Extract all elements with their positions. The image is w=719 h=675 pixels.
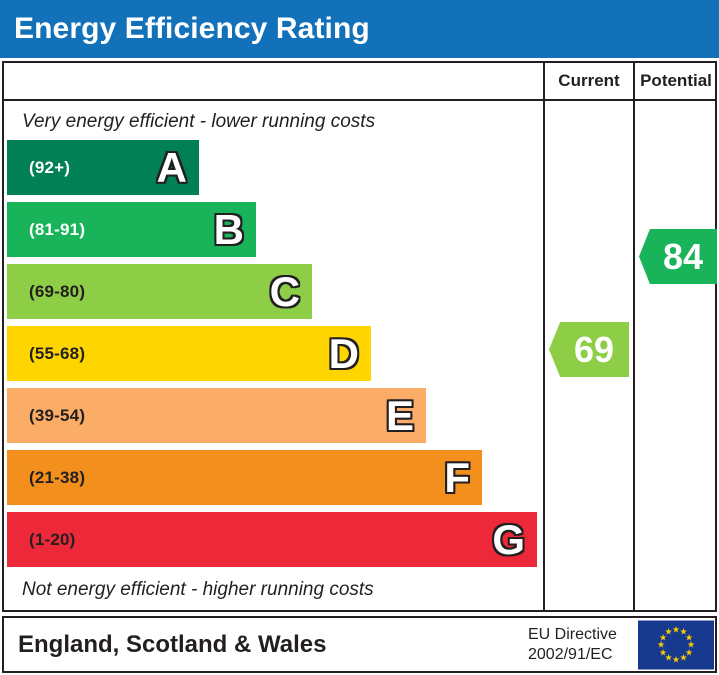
caption-efficient: Very energy efficient - lower running co… [22,111,375,133]
band-range-label: (92+) [29,158,70,178]
chart-header-bar: Energy Efficiency Rating [0,0,719,58]
eu-flag-star: ★ [680,653,688,661]
band-range-label: (21-38) [29,468,85,488]
rating-band-g: (1-20)G [7,512,537,567]
energy-efficiency-rating-chart: Energy Efficiency Rating Current Potenti… [0,0,719,675]
eu-flag-star: ★ [665,628,673,636]
eu-flag-star: ★ [672,656,680,664]
footer-region-label: England, Scotland & Wales [18,631,326,659]
page-title: Energy Efficiency Rating [14,12,370,46]
directive-line-1: EU Directive [528,625,617,645]
band-letter-a: A [157,147,187,189]
band-letter-e: E [386,395,414,437]
caption-inefficient: Not energy efficient - higher running co… [22,579,374,601]
band-range-label: (1-20) [29,530,76,550]
band-letter-g: G [492,519,525,561]
rating-band-b: (81-91)B [7,202,256,257]
directive-line-2: 2002/91/EC [528,645,617,665]
band-range-label: (55-68) [29,344,85,364]
band-list: (92+)A(81-91)B(69-80)C(55-68)D(39-54)E(2… [7,140,543,574]
current-rating-arrow: 69 [549,322,629,377]
potential-rating-arrow: 84 [639,229,717,284]
footer-directive-label: EU Directive 2002/91/EC [528,625,617,665]
column-divider-current [543,101,545,610]
band-letter-b: B [214,209,244,251]
band-range-label: (39-54) [29,406,85,426]
band-range-label: (69-80) [29,282,85,302]
rating-table: Current Potential Very energy efficient … [2,61,717,612]
band-letter-c: C [270,271,300,313]
rating-band-a: (92+)A [7,140,199,195]
column-header-row: Current Potential [4,63,715,101]
band-letter-d: D [329,333,359,375]
bands-panel: Very energy efficient - lower running co… [4,101,543,610]
column-header-current: Current [543,63,633,99]
column-divider-potential [633,101,635,610]
rating-band-d: (55-68)D [7,326,371,381]
potential-rating-value: 84 [663,236,703,278]
chart-footer: England, Scotland & Wales EU Directive 2… [2,616,717,673]
eu-flag-icon: ★★★★★★★★★★★★ [638,620,714,669]
current-rating-value: 69 [574,329,614,371]
band-letter-f: F [444,457,470,499]
column-header-potential: Potential [633,63,717,99]
rating-band-e: (39-54)E [7,388,426,443]
band-range-label: (81-91) [29,220,85,240]
rating-band-c: (69-80)C [7,264,312,319]
rating-band-f: (21-38)F [7,450,482,505]
